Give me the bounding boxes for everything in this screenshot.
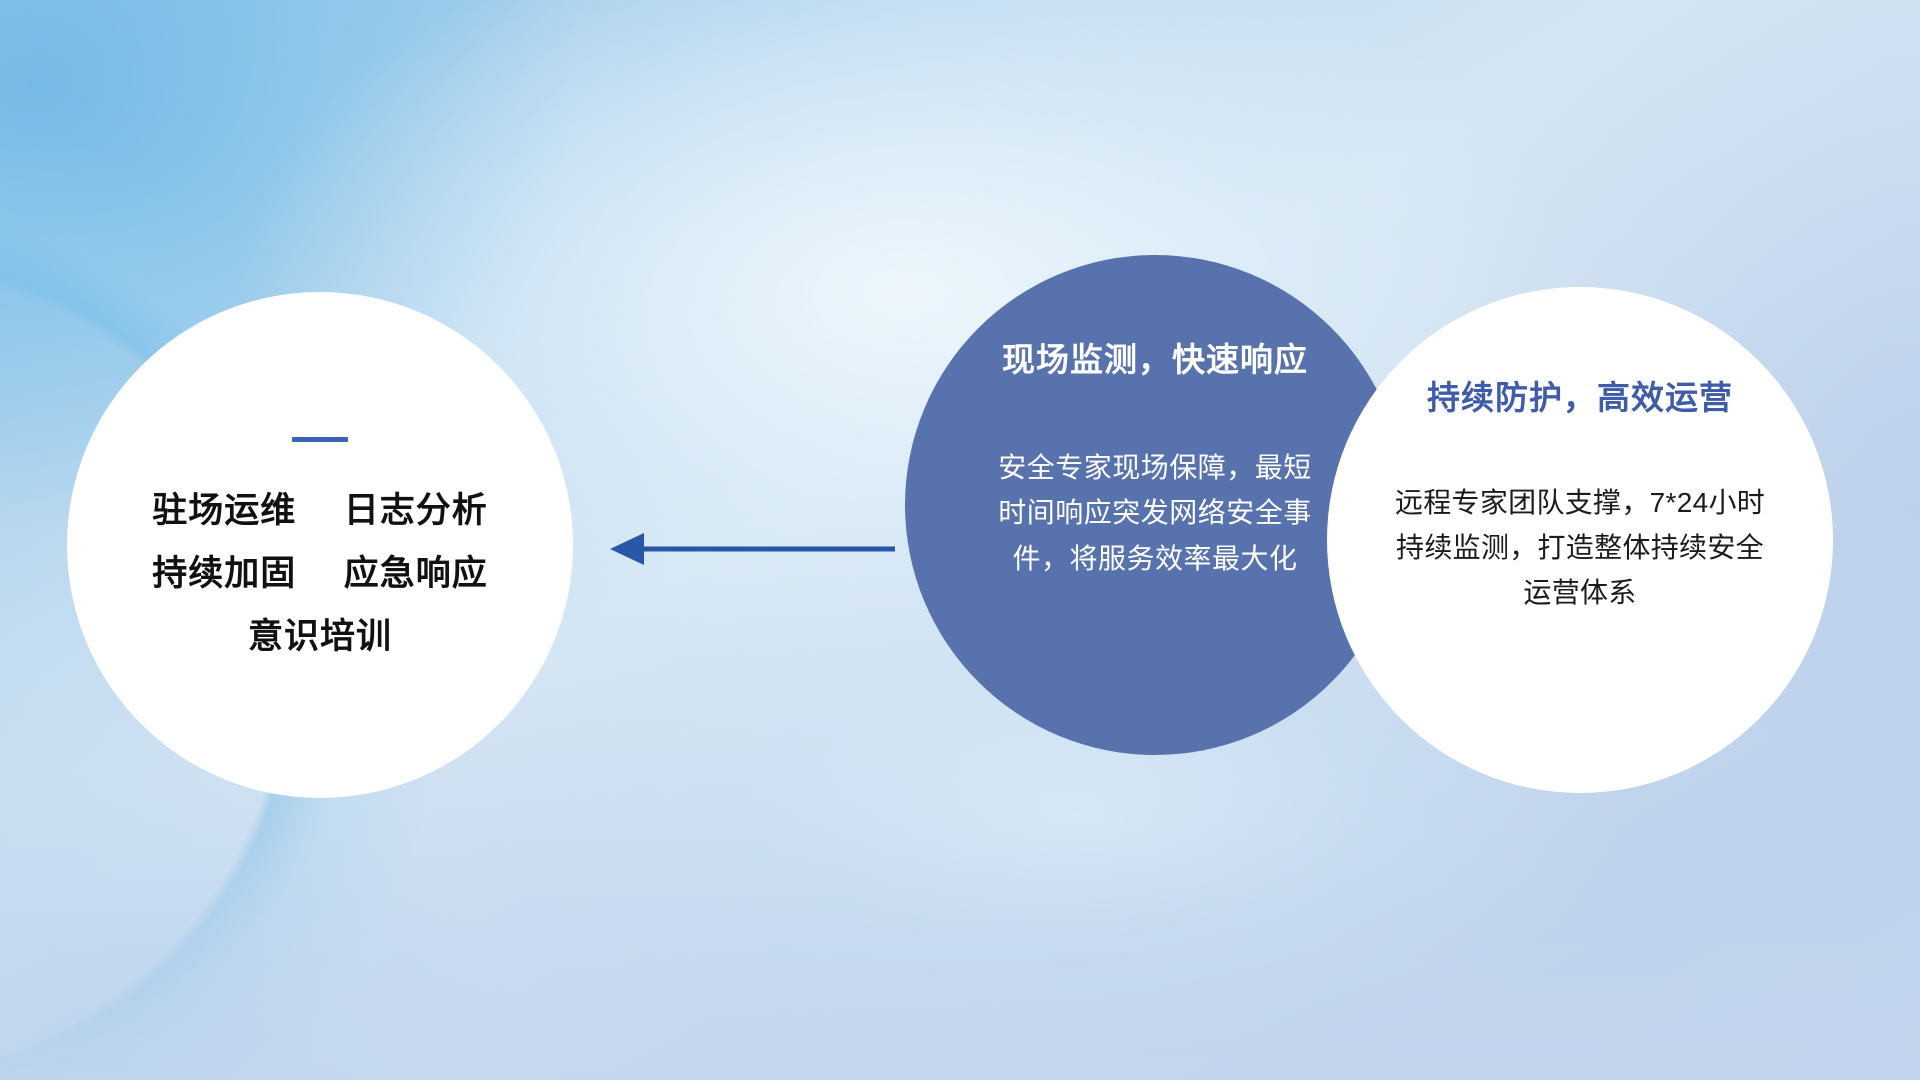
capability-row: 意识培训 — [248, 616, 392, 657]
capability-row: 驻场运维 日志分析 — [152, 490, 488, 531]
arrow-left-icon — [600, 520, 900, 578]
capability-row: 持续加固 应急响应 — [152, 553, 488, 594]
capability-tag: 持续加固 — [152, 554, 296, 593]
middle-circle-body: 安全专家现场保障，最短时间响应突发网络安全事件，将服务效率最大化 — [997, 445, 1313, 581]
middle-circle-heading: 现场监测，快速响应 — [1002, 333, 1308, 381]
capability-tag: 意识培训 — [248, 617, 392, 656]
capability-tag: 驻场运维 — [152, 491, 296, 530]
continuous-protection-circle[interactable]: 持续防护，高效运营 远程专家团队支撑，7*24小时持续监测，打造整体持续安全运营… — [1327, 287, 1833, 793]
left-circle-content: 驻场运维 日志分析 持续加固 应急响应 意识培训 — [67, 292, 573, 798]
right-circle-body: 远程专家团队支撑，7*24小时持续监测，打造整体持续安全运营体系 — [1394, 481, 1766, 615]
right-circle-content: 持续防护，高效运营 远程专家团队支撑，7*24小时持续监测，打造整体持续安全运营… — [1327, 287, 1833, 793]
right-circle-heading: 持续防护，高效运营 — [1427, 371, 1733, 419]
divider-line — [292, 437, 348, 442]
capability-tag: 日志分析 — [344, 491, 488, 530]
left-capability-circle[interactable]: 驻场运维 日志分析 持续加固 应急响应 意识培训 — [67, 292, 573, 798]
capability-tag: 应急响应 — [344, 554, 488, 593]
slide-canvas: 驻场运维 日志分析 持续加固 应急响应 意识培训 现场监测，快速响应 安全专家现… — [0, 0, 1920, 1080]
